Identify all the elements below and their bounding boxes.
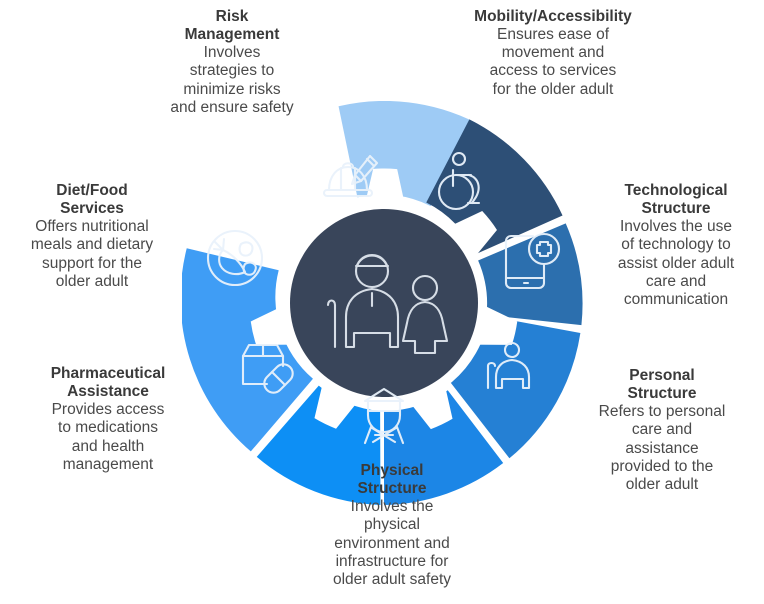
callout-title: Pharmaceutical Assistance: [26, 365, 190, 401]
segmented-wheel: [182, 101, 586, 505]
callout-title: Diet/Food Services: [6, 182, 178, 218]
callout-physical-structure: Physical Structure Involves the physical…: [294, 462, 490, 589]
callout-description: Involves strategies to minimize risks an…: [140, 44, 324, 117]
callout-description: Refers to personal care and assistance p…: [572, 403, 752, 494]
callout-description: Involves the use of technology to assist…: [592, 218, 760, 309]
callout-technological-structure: Technological Structure Involves the use…: [592, 182, 760, 309]
callout-description: Ensures ease of movement and access to s…: [431, 26, 675, 99]
callout-description: Provides access to medications and healt…: [26, 401, 190, 474]
callout-title: Personal Structure: [572, 367, 752, 403]
callout-diet-food-services: Diet/Food Services Offers nutritional me…: [6, 182, 178, 291]
callout-description: Offers nutritional meals and dietary sup…: [6, 218, 178, 291]
callout-title: Mobility/Accessibility: [431, 8, 675, 26]
center-hub: [290, 209, 478, 397]
callout-description: Involves the physical environment and in…: [294, 498, 490, 589]
callout-title: Technological Structure: [592, 182, 760, 218]
diagram-canvas: Risk Management Involves strategies to m…: [0, 0, 764, 604]
callout-personal-structure: Personal Structure Refers to personal ca…: [572, 367, 752, 494]
callout-title: Physical Structure: [294, 462, 490, 498]
callout-title: Risk Management: [140, 8, 324, 44]
callout-pharmaceutical-assistance: Pharmaceutical Assistance Provides acces…: [26, 365, 190, 474]
callout-risk-management: Risk Management Involves strategies to m…: [140, 8, 324, 117]
callout-mobility-accessibility: Mobility/Accessibility Ensures ease of m…: [431, 8, 675, 99]
